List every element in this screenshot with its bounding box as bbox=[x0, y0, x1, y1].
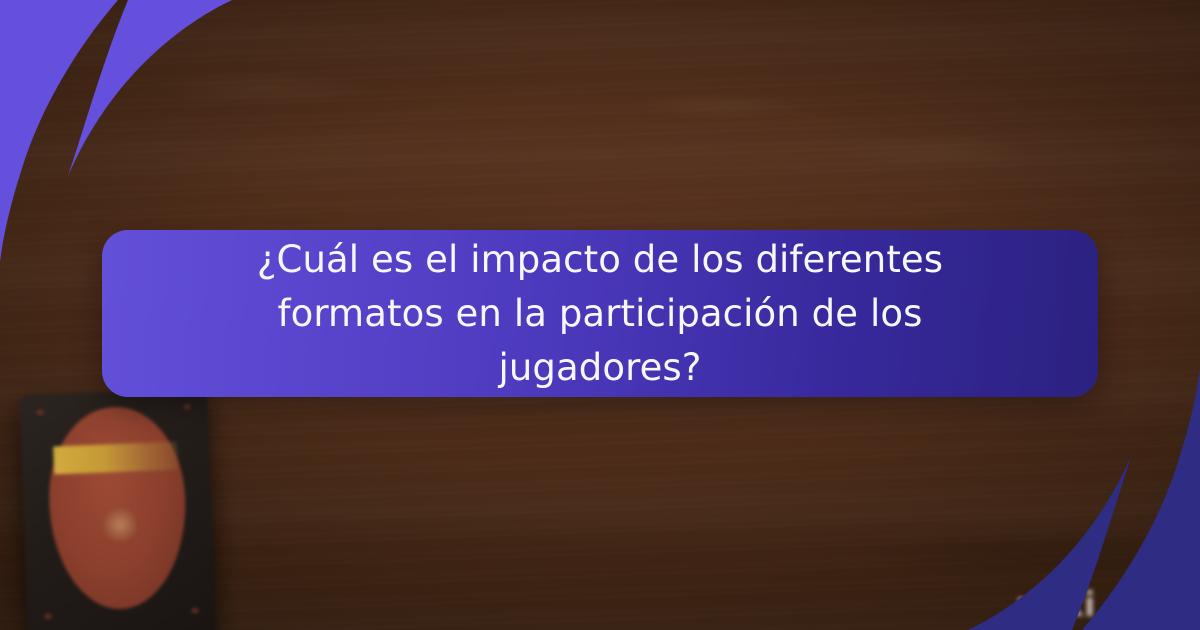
site-watermark: wiki bbox=[1017, 585, 1096, 625]
headline-text: ¿Cuál es el impacto de los diferentes fo… bbox=[200, 233, 1000, 395]
card-corner-dot bbox=[37, 410, 44, 415]
headline-banner: ¿Cuál es el impacto de los diferentes fo… bbox=[102, 230, 1098, 397]
magic-the-gathering-card-back bbox=[19, 388, 217, 630]
card-corner-dot bbox=[192, 608, 199, 613]
card-corner-dot bbox=[44, 614, 51, 619]
card-logo-mark bbox=[53, 441, 178, 474]
card-center-sigil bbox=[102, 507, 137, 542]
card-corner-dot bbox=[184, 405, 191, 410]
share-card-canvas: wiki ¿Cuál es el impacto de los diferent… bbox=[0, 0, 1200, 630]
card-body bbox=[19, 388, 217, 630]
